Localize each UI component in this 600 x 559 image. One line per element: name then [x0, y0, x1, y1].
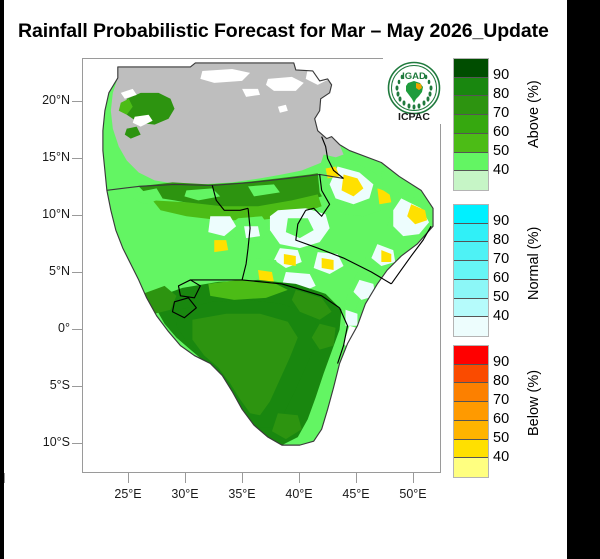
- x-tick-label: 25°E: [96, 487, 160, 501]
- colorbar-segment-below: [454, 458, 488, 477]
- y-tick-mark: [72, 101, 82, 102]
- cb-normal-tick-70: 70: [493, 251, 509, 267]
- cb-below-tick-80: 80: [493, 373, 509, 389]
- colorbar-above-ticks: 90 80 70 60 50 40: [493, 58, 527, 191]
- y-tick-label: 10°N: [14, 207, 70, 221]
- colorbar-normal-ticks: 90 80 70 60 50 40: [493, 204, 527, 337]
- colorbar-below: [453, 345, 489, 478]
- page-title: Rainfall Probabilistic Forecast for Mar …: [18, 20, 563, 43]
- colorbar-segment-above: [454, 59, 488, 78]
- x-tick-mark: [242, 473, 243, 483]
- cb-normal-tick-80: 80: [493, 232, 509, 248]
- x-tick-label: 30°E: [153, 487, 217, 501]
- logo-icpac-text: ICPAC: [398, 111, 430, 123]
- colorbar-segment-above: [454, 171, 488, 190]
- cb-normal-tick-50: 50: [493, 289, 509, 305]
- colorbar-segment-below: [454, 440, 488, 459]
- colorbar-segment-normal: [454, 317, 488, 336]
- x-tick-label: 45°E: [324, 487, 388, 501]
- colorbar-segment-normal: [454, 261, 488, 280]
- cb-below-tick-60: 60: [493, 411, 509, 427]
- colorbar-normal: [453, 204, 489, 337]
- cb-above-tick-80: 80: [493, 86, 509, 102]
- cb-below-tick-70: 70: [493, 392, 509, 408]
- y-tick-mark: [72, 443, 82, 444]
- colorbar-below-title: Below (%): [526, 370, 542, 436]
- y-tick-mark: [72, 272, 82, 273]
- x-tick-label: 35°E: [210, 487, 274, 501]
- x-tick-label: 50°E: [381, 487, 445, 501]
- colorbar-segment-above: [454, 134, 488, 153]
- colorbar-segment-below: [454, 346, 488, 365]
- colorbar-segment-normal: [454, 205, 488, 224]
- colorbar-segment-below: [454, 421, 488, 440]
- figure-canvas: Rainfall Probabilistic Forecast for Mar …: [2, 0, 567, 559]
- colorbar-above: [453, 58, 489, 191]
- y-tick-label: 10°S: [14, 435, 70, 449]
- cb-above-tick-60: 60: [493, 124, 509, 140]
- y-tick-label: 20°N: [14, 93, 70, 107]
- logo-igad-text: IGAD: [402, 71, 426, 82]
- x-tick-mark: [128, 473, 129, 483]
- y-tick-label: 15°N: [14, 150, 70, 164]
- colorbar-segment-above: [454, 78, 488, 97]
- colorbar-segment-normal: [454, 299, 488, 318]
- colorbar-segment-below: [454, 402, 488, 421]
- cb-above-tick-90: 90: [493, 67, 509, 83]
- colorbar-segment-above: [454, 115, 488, 134]
- y-tick-label: 5°N: [14, 264, 70, 278]
- cb-above-tick-50: 50: [493, 143, 509, 159]
- forecast-map-page: Rainfall Probabilistic Forecast for Mar …: [0, 0, 600, 559]
- y-tick-mark: [72, 158, 82, 159]
- cb-normal-tick-90: 90: [493, 213, 509, 229]
- cb-normal-tick-40: 40: [493, 308, 509, 324]
- x-tick-mark: [413, 473, 414, 483]
- y-tick-mark: [72, 329, 82, 330]
- y-tick-label: 0°: [14, 321, 70, 335]
- cb-above-tick-40: 40: [493, 162, 509, 178]
- cb-below-tick-40: 40: [493, 449, 509, 465]
- colorbar-segment-below: [454, 383, 488, 402]
- cb-below-tick-50: 50: [493, 430, 509, 446]
- x-tick-label: 40°E: [267, 487, 331, 501]
- x-tick-mark: [299, 473, 300, 483]
- colorbar-segment-normal: [454, 280, 488, 299]
- colorbar-below-ticks: 90 80 70 60 50 40: [493, 345, 527, 478]
- colorbar-segment-above: [454, 153, 488, 172]
- x-tick-mark: [185, 473, 186, 483]
- cb-below-tick-90: 90: [493, 354, 509, 370]
- colorbar-normal-title: Normal (%): [526, 227, 542, 300]
- colorbar-above-title: Above (%): [526, 80, 542, 148]
- y-tick-mark: [72, 386, 82, 387]
- colorbar-segment-normal: [454, 242, 488, 261]
- cb-normal-tick-60: 60: [493, 270, 509, 286]
- x-tick-mark: [356, 473, 357, 483]
- cb-above-tick-70: 70: [493, 105, 509, 121]
- igad-icpac-logo: IGAD ICPAC: [383, 58, 445, 124]
- colorbar-segment-above: [454, 96, 488, 115]
- y-tick-label: 5°S: [14, 378, 70, 392]
- colorbar-segment-normal: [454, 224, 488, 243]
- colorbar-segment-below: [454, 365, 488, 384]
- y-tick-mark: [72, 215, 82, 216]
